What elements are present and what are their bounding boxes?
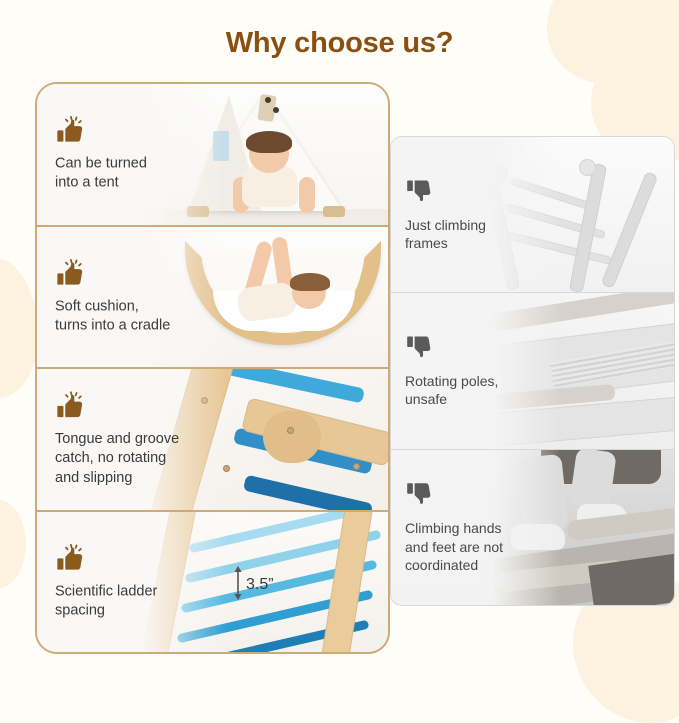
screw <box>223 465 230 472</box>
pros-row-tongue-groove: Tongue and groove catch, no rotating and… <box>37 367 388 510</box>
cons-row-rotating-poles: Rotating poles, unsafe <box>391 292 674 448</box>
cons-label: Just climbing frames <box>405 216 535 253</box>
page-title: Why choose us? <box>0 0 679 60</box>
cons-label: Rotating poles, unsafe <box>405 372 535 409</box>
thumbs-down-icon <box>405 480 435 510</box>
tent-dot <box>265 97 271 103</box>
cons-label: Climbing hands and feet are not coordina… <box>405 519 535 574</box>
child-arm-right <box>299 177 315 213</box>
blue-rung <box>215 367 365 403</box>
cons-caption-uncoordinated: Climbing hands and feet are not coordina… <box>405 480 535 574</box>
frame-knob-right <box>579 159 596 176</box>
child-hair <box>290 273 330 291</box>
pros-label: Tongue and groove catch, no rotating and… <box>55 430 205 487</box>
pros-caption-tent: Can be turned into a tent <box>55 116 205 193</box>
screw <box>353 463 360 470</box>
frame-rail-right <box>601 171 659 289</box>
cons-row-uncoordinated: Climbing hands and feet are not coordina… <box>391 449 674 605</box>
thumbs-down-icon <box>405 177 435 207</box>
child-leg-right <box>569 449 617 511</box>
thumbs-up-icon <box>55 543 85 573</box>
pros-caption-cradle: Soft cushion, turns into a cradle <box>55 258 205 335</box>
pros-row-cradle: Soft cushion, turns into a cradle <box>37 225 388 368</box>
pros-caption-tongue-groove: Tongue and groove catch, no rotating and… <box>55 391 205 487</box>
pros-caption-ladder-spacing: Scientific ladder spacing <box>55 543 205 620</box>
screw <box>287 427 294 434</box>
dimension-arrow-icon <box>233 566 243 605</box>
pros-label: Soft cushion, turns into a cradle <box>55 297 205 335</box>
joint-knob <box>263 411 321 463</box>
ladder-rail-right <box>318 510 375 653</box>
cons-row-climbing-frames: Just climbing frames <box>391 137 674 292</box>
tent-foot-right <box>323 206 345 217</box>
pros-row-ladder-spacing: 3.5” S <box>37 510 388 653</box>
tent-dot <box>273 107 279 113</box>
thumbs-up-icon <box>55 258 85 288</box>
cons-panel: Just climbing frames <box>390 136 675 606</box>
thumbs-up-icon <box>55 391 85 421</box>
blue-rung <box>243 475 373 510</box>
comparison-board: Can be turned into a tent <box>0 82 679 654</box>
dimension-label: 3.5” <box>246 576 274 594</box>
tent-label-tag <box>213 131 229 161</box>
pros-label: Scientific ladder spacing <box>55 582 205 620</box>
pros-label: Can be turned into a tent <box>55 155 205 193</box>
pros-row-tent: Can be turned into a tent <box>37 84 388 225</box>
thumbs-up-icon <box>55 116 85 146</box>
cons-caption-climbing-frames: Just climbing frames <box>405 177 535 253</box>
thumbs-down-icon <box>405 333 435 363</box>
cons-caption-rotating-poles: Rotating poles, unsafe <box>405 333 535 409</box>
dimension-annotation: 3.5” <box>233 566 274 605</box>
tent-foot-left <box>187 206 209 217</box>
pros-panel: Can be turned into a tent <box>35 82 390 654</box>
child-hair <box>246 131 292 153</box>
